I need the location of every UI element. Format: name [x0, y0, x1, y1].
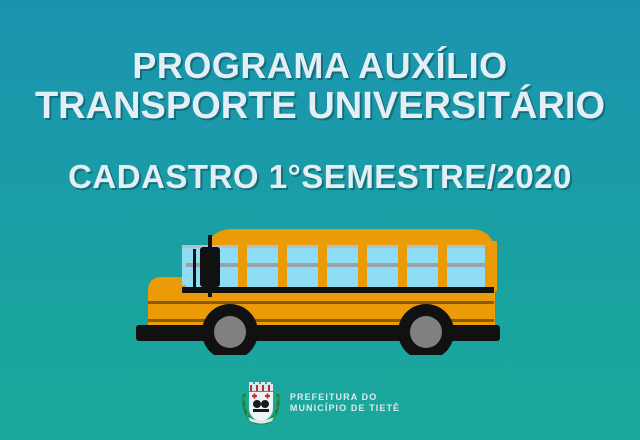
page-title: PROGRAMA AUXÍLIO TRANSPORTE UNIVERSITÁRI… [0, 46, 640, 126]
bus-body-line-upper [148, 301, 494, 304]
bus-belt-stripe [182, 287, 494, 293]
poster-canvas: PROGRAMA AUXÍLIO TRANSPORTE UNIVERSITÁRI… [0, 0, 640, 440]
page-title-line-2: TRANSPORTE UNIVERSITÁRIO [0, 86, 640, 126]
bus-window-pillar [278, 243, 287, 289]
footer-text-line-1: PREFEITURA DO [290, 392, 400, 403]
footer-text-line-2: MUNICÍPIO DE TIETÊ [290, 403, 400, 414]
page-title-line-1: PROGRAMA AUXÍLIO [0, 46, 640, 86]
footer-brand: PREFEITURA DO MUNICÍPIO DE TIETÊ [0, 380, 640, 426]
footer-text: PREFEITURA DO MUNICÍPIO DE TIETÊ [290, 392, 400, 414]
bus-rear-pillar [485, 241, 497, 291]
school-bus-illustration [130, 215, 530, 355]
bus-window-pillar [438, 243, 447, 289]
bus-window-pillar [398, 243, 407, 289]
bus-rear-hubcap [410, 316, 442, 348]
bus-window-pillar [318, 243, 327, 289]
bus-front-hubcap [214, 316, 246, 348]
bus-stop-sign-arm [200, 247, 220, 287]
coat-of-arms-icon [240, 380, 282, 426]
bus-window-pillar [358, 243, 367, 289]
bus-door-frame-line [193, 249, 196, 293]
bus-window-pillar [238, 243, 247, 289]
page-subtitle: CADASTRO 1°SEMESTRE/2020 [0, 158, 640, 196]
